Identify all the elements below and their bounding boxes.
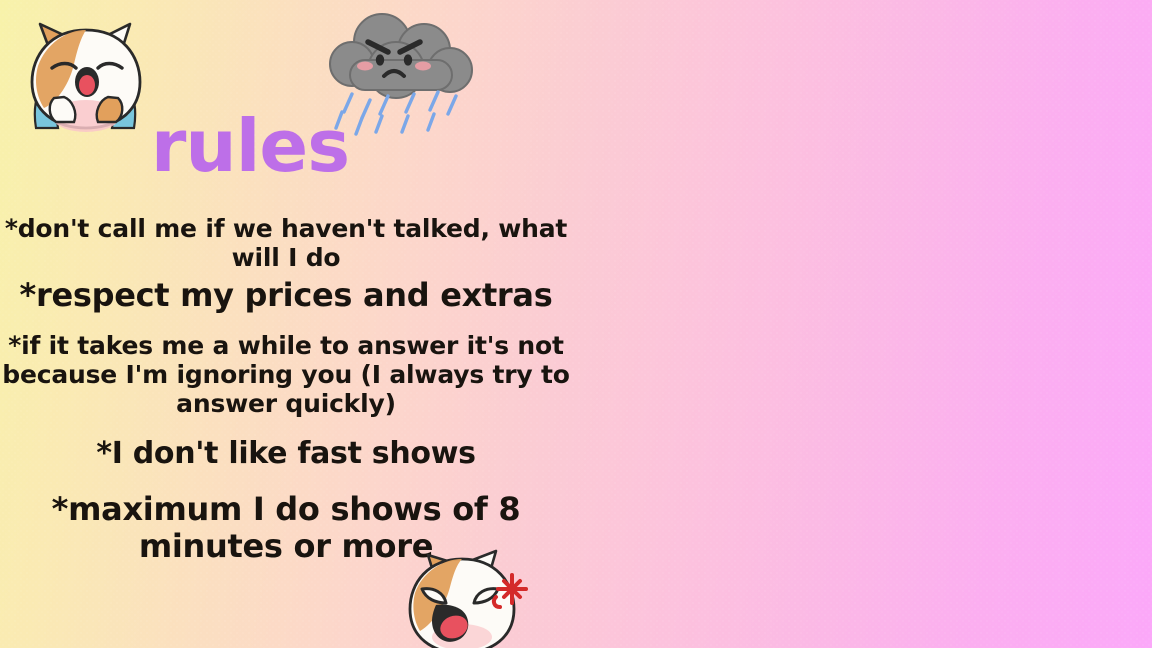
page-title: rules [0,110,500,182]
rule-item-2: *respect my prices and extras [0,277,572,314]
rule-item-3: *if it takes me a while to answer it's n… [0,331,572,418]
rule-item-4: *I don't like fast shows [0,437,572,472]
rule-item-1: *don't call me if we haven't talked, wha… [0,214,572,272]
angry-cat-sticker [392,545,534,648]
slide-canvas: rules *don't call me if we haven't talke… [0,0,1152,648]
